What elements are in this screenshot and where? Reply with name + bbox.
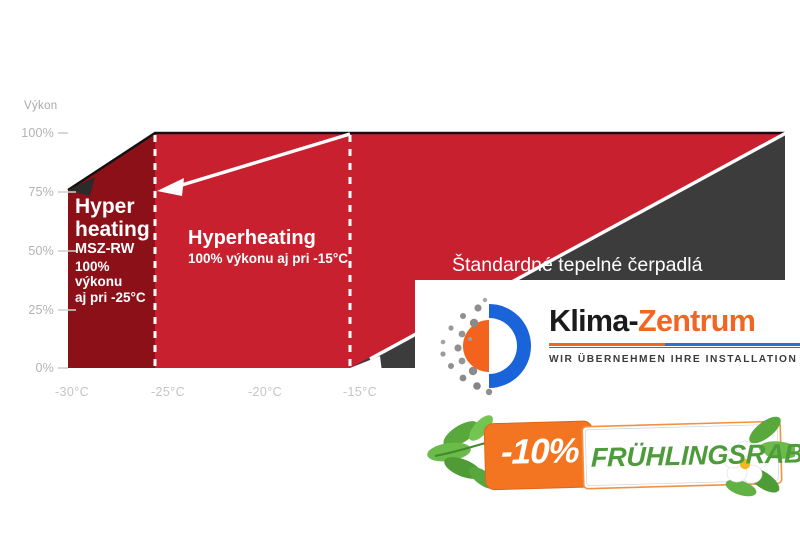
band-label-line-1: Hyper <box>75 196 155 219</box>
band-label-line-3: MSZ-RW <box>75 242 155 258</box>
brand-divider-rule-secondary <box>549 347 800 349</box>
promo-overlay-card: Klima-Zentrum WIR ÜBERNEHMEN IHRE INSTAL… <box>415 280 800 533</box>
band-label-hyperheating: Hyperheating 100% výkonu aj pri -15°C <box>188 228 368 266</box>
discount-percentage-label: -10% <box>501 431 579 473</box>
brand-divider-rule <box>549 343 800 346</box>
x-tick-label: -20°C <box>248 385 282 399</box>
y-tick-label: 25% <box>8 303 54 317</box>
band-label-line-5: aj pri -25°C <box>75 291 155 306</box>
band-label-title: Hyperheating <box>188 228 368 250</box>
y-tick-label: 75% <box>8 185 54 199</box>
band-label-title: Štandardné tepelné čerpadlá <box>452 255 782 276</box>
brand-logo[interactable]: Klima-Zentrum WIR ÜBERNEHMEN IHRE INSTAL… <box>427 292 799 400</box>
brand-tagline: WIR ÜBERNEHMEN IHRE INSTALLATION <box>549 354 800 365</box>
band-label-line-2: heating <box>75 219 155 242</box>
x-tick-label: -15°C <box>343 385 377 399</box>
y-tick-label: 50% <box>8 244 54 258</box>
band-label-line-4: 100% výkonu <box>75 260 155 289</box>
band-label-hyper-heating-msz: Hyper heating MSZ-RW 100% výkonu aj pri … <box>75 196 155 306</box>
x-tick-label: -25°C <box>151 385 185 399</box>
brand-wordmark: Klima-Zentrum <box>549 306 800 337</box>
brand-word-zentrum: Zentrum <box>638 304 755 338</box>
y-axis-tick-labels: 100% 75% 50% 25% 0% <box>0 0 54 430</box>
brand-word-klima: Klima- <box>549 304 638 338</box>
brand-wordmark-block: Klima-Zentrum WIR ÜBERNEHMEN IHRE INSTAL… <box>549 306 800 365</box>
spring-discount-banner[interactable]: -10% FRÜHLINGSRABATT <box>423 408 795 504</box>
klima-zentrum-sun-arc-logo-icon <box>437 294 545 398</box>
band-label-standard-heat-pumps: Štandardné tepelné čerpadlá <box>452 255 782 276</box>
y-tick-label: 100% <box>8 126 54 140</box>
screenshot-root: Výkon 100% 75% 50% 25% 0% -30°C -25°C -2… <box>0 0 800 533</box>
discount-campaign-label: FRÜHLINGSRABATT <box>591 437 800 473</box>
band-label-sub: 100% výkonu aj pri -15°C <box>188 252 368 267</box>
y-tick-label: 0% <box>8 361 54 375</box>
x-tick-label: -30°C <box>55 385 89 399</box>
